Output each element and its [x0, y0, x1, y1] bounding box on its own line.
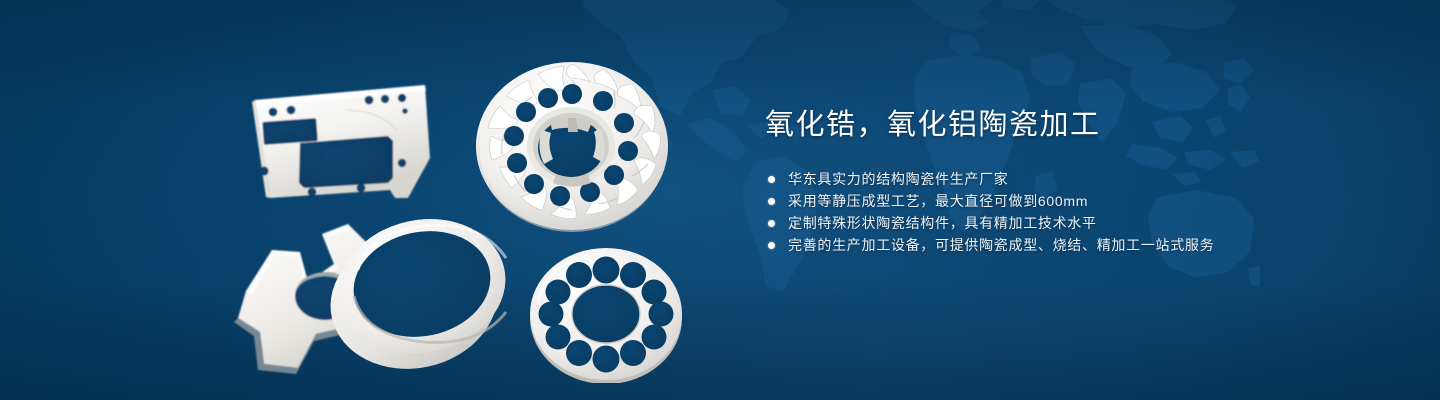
feature-list: 华东具实力的结构陶瓷件生产厂家 采用等静压成型工艺，最大直径可做到600mm 定… [765, 168, 1325, 256]
list-item: 定制特殊形状陶瓷结构件，具有精加工技术水平 [765, 212, 1325, 234]
ceramic-perforated-disc [530, 248, 682, 383]
bullet-icon [768, 220, 775, 227]
feature-text: 采用等静压成型工艺，最大直径可做到600mm [788, 191, 1088, 211]
bullet-icon [768, 242, 775, 249]
list-item: 采用等静压成型工艺，最大直径可做到600mm [765, 190, 1325, 212]
feature-text: 定制特殊形状陶瓷结构件，具有精加工技术水平 [788, 213, 1097, 233]
bullet-icon [768, 176, 775, 183]
list-item: 完善的生产加工设备，可提供陶瓷成型、烧结、精加工一站式服务 [765, 234, 1325, 256]
hero-banner: 氧化锆，氧化铝陶瓷加工 华东具实力的结构陶瓷件生产厂家 采用等静压成型工艺，最大… [0, 0, 1440, 400]
bullet-icon [768, 198, 775, 205]
product-photo-cluster [230, 38, 730, 383]
copy-block: 氧化锆，氧化铝陶瓷加工 华东具实力的结构陶瓷件生产厂家 采用等静压成型工艺，最大… [765, 108, 1325, 256]
ceramic-impeller [476, 62, 668, 232]
list-item: 华东具实力的结构陶瓷件生产厂家 [765, 168, 1325, 190]
feature-text: 完善的生产加工设备，可提供陶瓷成型、烧结、精加工一站式服务 [788, 235, 1214, 255]
page-title: 氧化锆，氧化铝陶瓷加工 [765, 108, 1325, 142]
ceramic-mounting-plate [252, 85, 430, 198]
feature-text: 华东具实力的结构陶瓷件生产厂家 [788, 169, 1009, 189]
